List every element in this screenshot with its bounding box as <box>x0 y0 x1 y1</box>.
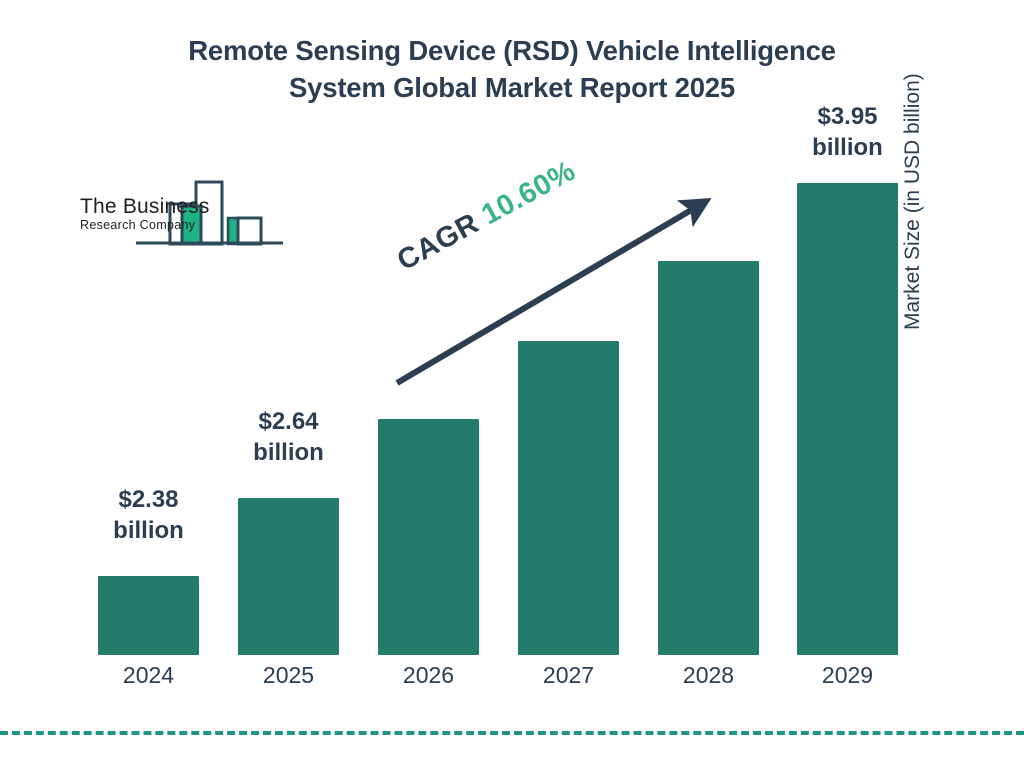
bar-value-amount: $3.95 <box>787 102 908 133</box>
company-logo-text: The Business Research Company <box>80 196 210 232</box>
x-axis-tick-2026: 2026 <box>366 662 491 689</box>
footer-divider <box>0 731 1024 735</box>
bar-2024 <box>98 576 199 655</box>
bar-value-label-2024: $2.38billion <box>88 485 209 546</box>
bar-chart-plot-area: $2.38billion2024$2.64billion202520262027… <box>0 0 1024 768</box>
y-axis-label: Market Size (in USD billion) <box>901 0 925 330</box>
bar-value-label-2029: $3.95billion <box>787 102 908 163</box>
bar-2028 <box>658 261 759 655</box>
logo-text-line-1: The Business <box>80 196 210 217</box>
logo-text-line-2: Research Company <box>80 219 210 232</box>
bar-value-unit: billion <box>228 438 349 469</box>
x-axis-tick-2028: 2028 <box>646 662 771 689</box>
x-axis-tick-2029: 2029 <box>785 662 910 689</box>
bar-value-unit: billion <box>787 133 908 164</box>
bar-2027 <box>518 341 619 655</box>
bar-value-label-2025: $2.64billion <box>228 407 349 468</box>
bar-2029 <box>797 183 898 655</box>
bar-2026 <box>378 419 479 655</box>
bar-value-amount: $2.64 <box>228 407 349 438</box>
bar-2025 <box>238 498 339 655</box>
x-axis-tick-2024: 2024 <box>86 662 211 689</box>
chart-page: Remote Sensing Device (RSD) Vehicle Inte… <box>0 0 1024 768</box>
x-axis-tick-2027: 2027 <box>506 662 631 689</box>
x-axis-tick-2025: 2025 <box>226 662 351 689</box>
bar-value-amount: $2.38 <box>88 485 209 516</box>
bar-value-unit: billion <box>88 516 209 547</box>
